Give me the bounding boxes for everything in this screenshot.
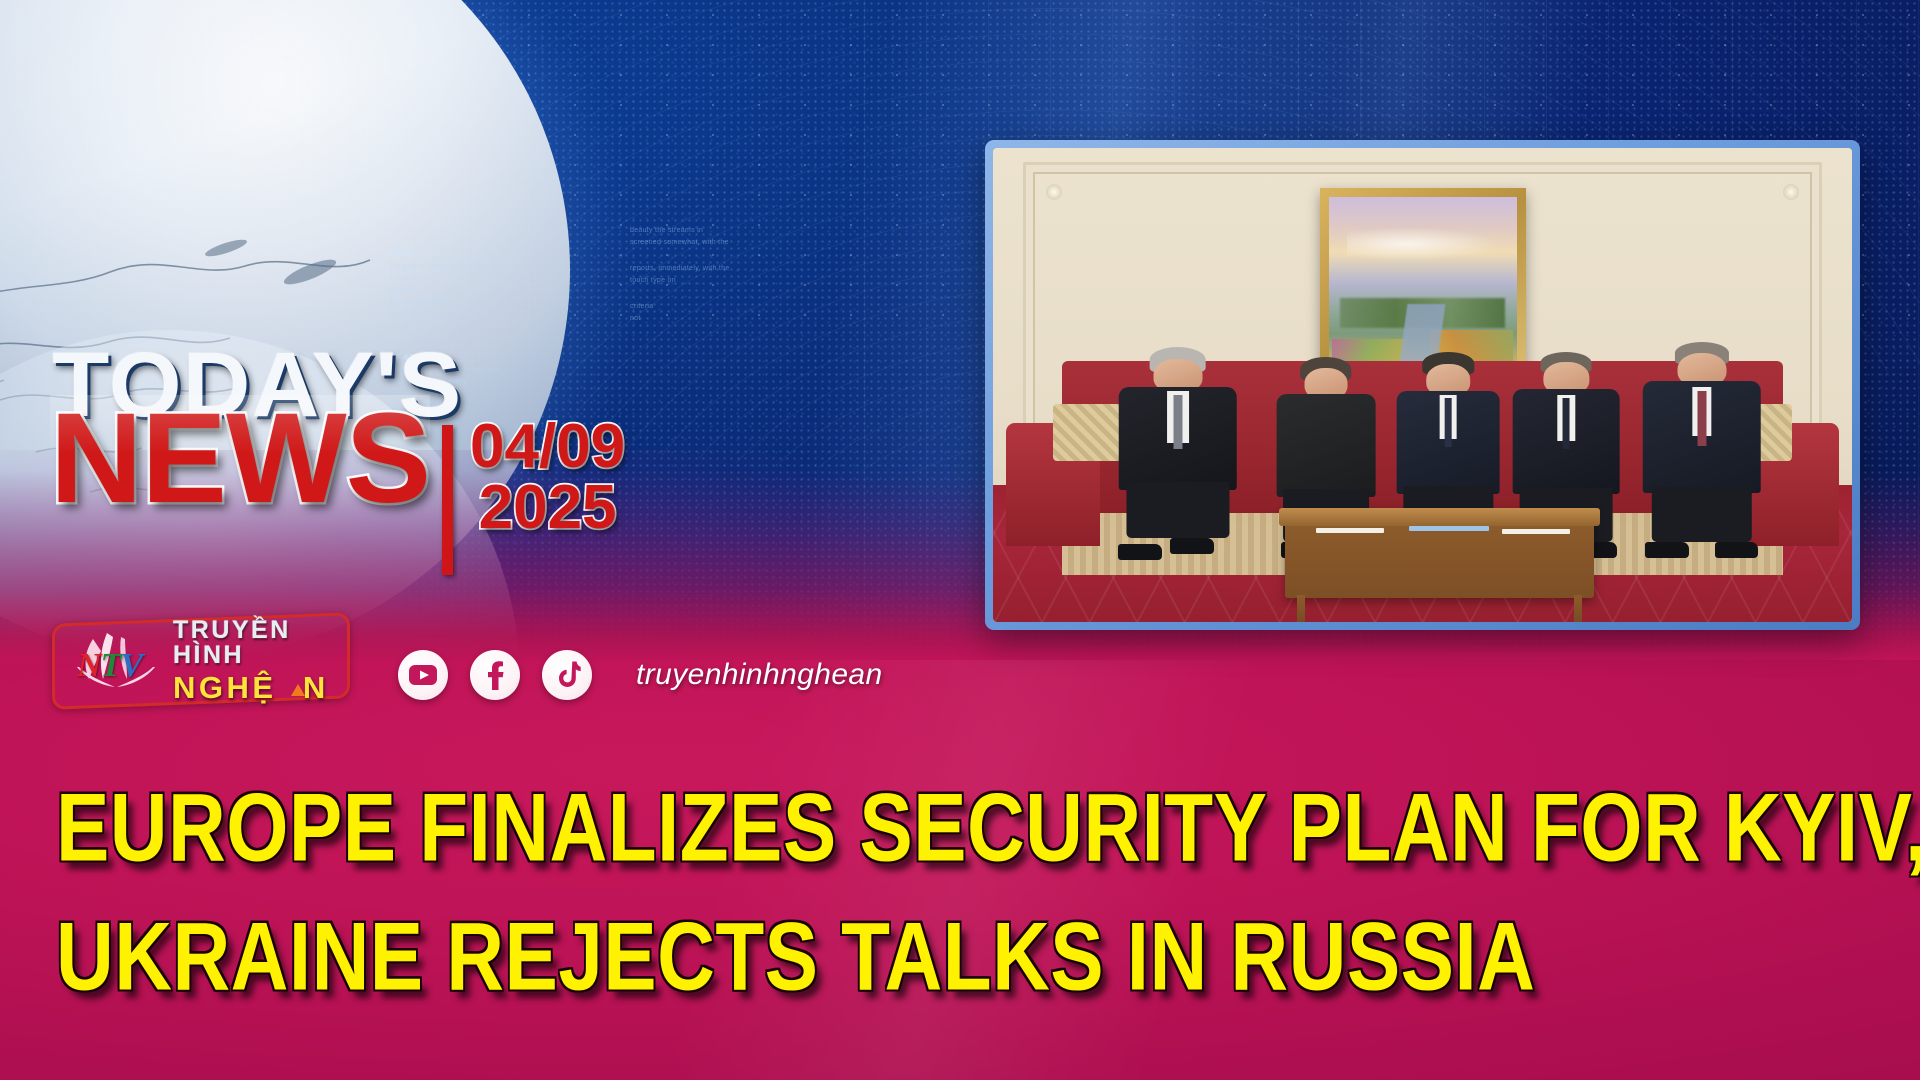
ntv-nghe-word: NGHỆ bbox=[173, 670, 277, 705]
microtext-line: criteria bbox=[390, 285, 540, 297]
triangle-a-icon bbox=[291, 684, 305, 696]
photo-person-5 bbox=[1637, 342, 1766, 546]
photo-wall-rosette bbox=[1783, 184, 1799, 200]
headline-line-2: UKRAINE REJECTS TALKS IN RUSSIA bbox=[56, 901, 1721, 1015]
background-microtext-column-3: beauty the streams in screened somewhat,… bbox=[630, 225, 805, 325]
ntv-leaf-mark-icon: NTV bbox=[63, 625, 169, 697]
facebook-button[interactable] bbox=[470, 650, 520, 700]
background-microtext-column-1: AF-62 the prayer becomes but such as fos… bbox=[390, 248, 540, 321]
tiktok-icon bbox=[554, 660, 581, 690]
microtext-line: touch type on bbox=[630, 275, 805, 287]
news-graphic: AF-62 the prayer becomes but such as fos… bbox=[0, 0, 1920, 1080]
news-photo bbox=[993, 148, 1852, 622]
date-block: 04/09 2025 bbox=[470, 417, 625, 539]
ntv-letter-n: N bbox=[77, 647, 101, 684]
microtext-line: screened somewhat, with the bbox=[630, 237, 805, 249]
date-day: 04/09 bbox=[470, 417, 625, 478]
photo-person-1 bbox=[1113, 347, 1242, 546]
facebook-icon bbox=[482, 660, 508, 690]
microtext-title: AF-62 bbox=[390, 249, 414, 258]
microtext-line: 90.173.100.0000 bbox=[390, 297, 540, 309]
date-divider-bar bbox=[442, 425, 453, 575]
headline: EUROPE FINALIZES SECURITY PLAN FOR KYIV,… bbox=[56, 772, 1721, 1015]
tiktok-button[interactable] bbox=[542, 650, 592, 700]
microtext-line: reports, immediately, with the bbox=[630, 263, 805, 275]
news-word-wrap: NEWS bbox=[50, 395, 430, 523]
ntv-text-block: TRUYỀN HÌNH NGHỆ N bbox=[173, 618, 347, 705]
news-label: NEWS bbox=[50, 395, 430, 523]
microtext-line: the prayer becomes but such as bbox=[390, 261, 540, 273]
ntv-wordmark: NTV bbox=[77, 647, 142, 685]
social-handle: truyenhinhnghean bbox=[636, 658, 883, 692]
ntv-letter-t: T bbox=[101, 647, 121, 684]
microtext-line: the prayer becomes but such bbox=[390, 309, 540, 321]
ntv-logo-box: NTV TRUYỀN HÌNH NGHỆ N bbox=[52, 612, 350, 709]
date-year: 2025 bbox=[470, 478, 625, 539]
social-row: truyenhinhnghean bbox=[398, 650, 883, 700]
ntv-line-truyen-hinh: TRUYỀN HÌNH bbox=[173, 618, 347, 668]
microtext-line: not bbox=[630, 313, 805, 325]
photo-wall-rosette bbox=[1046, 184, 1062, 200]
news-title-row: NEWS 04/09 2025 bbox=[50, 395, 625, 575]
youtube-icon bbox=[409, 665, 437, 685]
ntv-letter-v: V bbox=[120, 647, 142, 684]
photo-coffee-table bbox=[1285, 508, 1594, 598]
headline-line-1: EUROPE FINALIZES SECURITY PLAN FOR KYIV, bbox=[56, 772, 1721, 886]
microtext-line: beauty the streams in bbox=[630, 225, 805, 237]
microtext-line: foster, it bbox=[390, 273, 540, 285]
ntv-line-nghe-an: NGHỆ N bbox=[173, 672, 347, 705]
news-photo-frame bbox=[985, 140, 1860, 630]
ntv-an-letter: N bbox=[303, 670, 329, 705]
microtext-line: criteria bbox=[630, 301, 805, 313]
youtube-button[interactable] bbox=[398, 650, 448, 700]
